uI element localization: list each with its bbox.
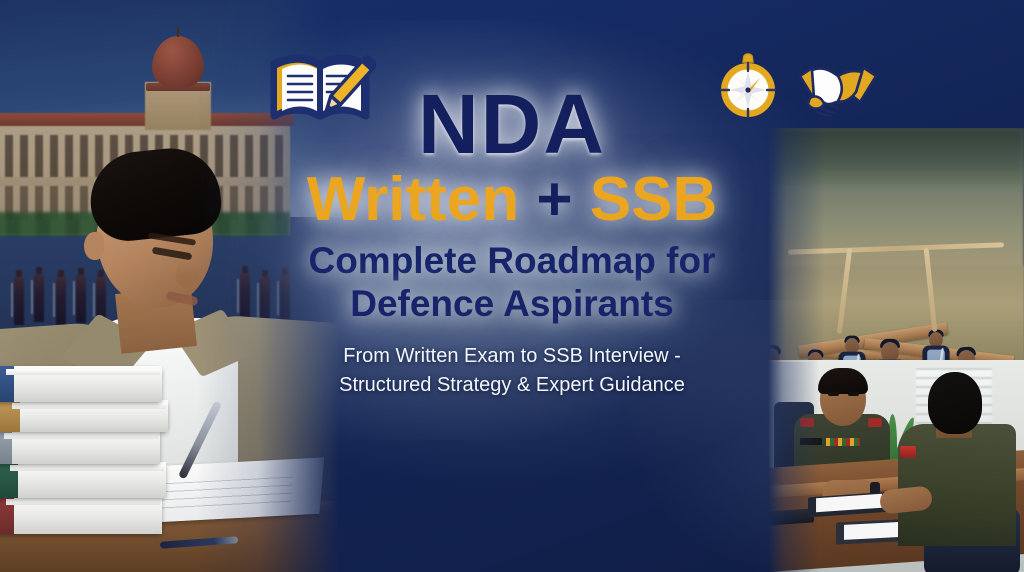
candidate-shoulder-patch (900, 446, 916, 458)
headline-block: NDA Written + SSB Complete Roadmap for D… (248, 84, 776, 399)
page-title: NDA (248, 84, 776, 165)
headline-secondary: Written + SSB (248, 167, 776, 233)
nda-promo-banner: NDA Written + SSB Complete Roadmap for D… (0, 0, 1024, 572)
subheadline: Complete Roadmap for Defence Aspirants (248, 240, 776, 326)
officer-medal-ribbons (826, 438, 860, 446)
officer-eye (848, 392, 859, 396)
headline-ssb: SSB (590, 165, 717, 234)
subheadline-line-2: Defence Aspirants (248, 283, 776, 326)
handshake-icon (798, 58, 878, 120)
book-navy (0, 366, 162, 402)
officer-hair (818, 368, 868, 394)
ssb-interview-photo (768, 360, 1024, 572)
book-tan (0, 400, 168, 432)
officer-rank-badge (868, 418, 882, 427)
tagline-line-1: From Written Exam to SSB Interview - (248, 342, 776, 370)
officer-eye (828, 392, 839, 396)
tagline-line-2: Structured Strategy & Expert Guidance (248, 371, 776, 399)
candidate-head (928, 372, 982, 434)
book-gray (0, 430, 160, 464)
officer-nameplate (800, 438, 822, 445)
candidate-uniform (898, 424, 1016, 546)
student-ear (84, 232, 104, 260)
headline-plus: + (519, 165, 590, 234)
tagline: From Written Exam to SSB Interview - Str… (248, 342, 776, 399)
ssb-group-task-photo (768, 128, 1024, 362)
book-stack (0, 334, 172, 534)
gto-treeline (768, 128, 1024, 186)
officer-rank-badge (800, 418, 814, 427)
book-red (0, 496, 162, 534)
book-green (0, 462, 166, 498)
student-hair (86, 143, 224, 244)
subheadline-line-1: Complete Roadmap for (248, 240, 776, 283)
headline-written: Written (307, 165, 519, 234)
